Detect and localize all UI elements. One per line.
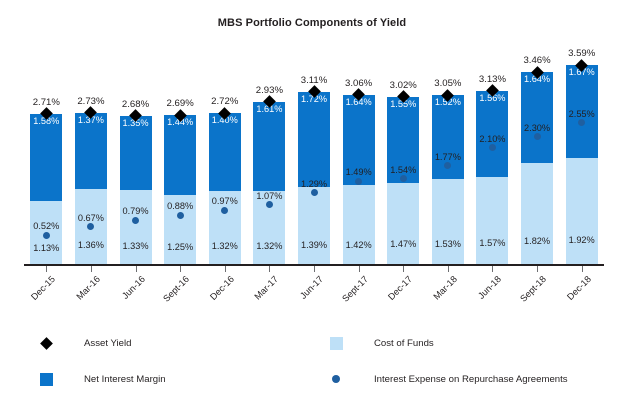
interest-expense-marker [534, 133, 541, 140]
x-axis-tick [448, 266, 449, 272]
bar-segment-net-interest-margin [521, 72, 553, 163]
value-label-interest-expense: 0.97% [209, 196, 241, 206]
bar-segment-net-interest-margin [253, 102, 285, 191]
bar-segment-cost-of-funds [566, 158, 598, 264]
plot-area: 1.13%1.58%2.71%0.52%1.36%1.37%2.73%0.67%… [24, 48, 604, 264]
value-label-interest-expense: 1.07% [253, 191, 285, 201]
interest-expense-marker [43, 232, 50, 239]
interest-expense-marker [400, 175, 407, 182]
interest-expense-marker [221, 207, 228, 214]
value-label-cost-of-funds: 1.13% [30, 243, 62, 253]
bar-segment-cost-of-funds [432, 179, 464, 264]
x-axis-tick [46, 266, 47, 272]
x-axis-label: Mar-16 [65, 274, 102, 311]
bar-segment-net-interest-margin [298, 92, 330, 187]
value-label-interest-expense: 0.79% [120, 206, 152, 216]
x-axis-tick [180, 266, 181, 272]
legend-item[interactable]: Net Interest Margin [40, 370, 166, 388]
legend-swatch [330, 375, 374, 383]
x-axis-tick [269, 266, 270, 272]
square-swatch-icon [40, 373, 53, 386]
legend-swatch [40, 373, 84, 386]
value-label-asset-yield: 3.46% [513, 55, 561, 66]
bar-segment-cost-of-funds [387, 183, 419, 264]
chart-legend: Asset YieldCost of FundsNet Interest Mar… [0, 330, 624, 400]
value-label-interest-expense: 0.67% [75, 213, 107, 223]
value-label-cost-of-funds: 1.42% [343, 240, 375, 250]
x-axis-label: Sept-17 [333, 274, 370, 311]
x-axis-label: Jun-18 [467, 274, 504, 311]
diamond-icon [40, 337, 53, 350]
value-label-asset-yield: 2.72% [201, 96, 249, 107]
bar-segment-cost-of-funds [521, 163, 553, 264]
value-label-interest-expense: 1.29% [298, 179, 330, 189]
x-axis-tick [492, 266, 493, 272]
bar-segment-cost-of-funds [343, 185, 375, 264]
interest-expense-marker [177, 212, 184, 219]
x-axis-label: Dec-18 [556, 274, 593, 311]
x-axis-tick [314, 266, 315, 272]
bar-segment-net-interest-margin [30, 114, 62, 202]
x-axis-label: Dec-17 [378, 274, 415, 311]
chart-container: MBS Portfolio Components of Yield 1.13%1… [0, 0, 624, 413]
x-axis-label: Sept-18 [511, 274, 548, 311]
legend-label: Cost of Funds [374, 338, 434, 349]
value-label-interest-expense: 2.30% [521, 123, 553, 133]
value-label-asset-yield: 2.69% [156, 98, 204, 109]
x-axis-tick [582, 266, 583, 272]
value-label-cost-of-funds: 1.82% [521, 236, 553, 246]
x-axis-label: Jun-16 [110, 274, 147, 311]
value-label-cost-of-funds: 1.92% [566, 235, 598, 245]
legend-item[interactable]: Interest Expense on Repurchase Agreement… [330, 370, 568, 388]
square-swatch-icon [330, 337, 343, 350]
bar-segment-cost-of-funds [120, 190, 152, 264]
legend-label: Net Interest Margin [84, 374, 166, 385]
value-label-interest-expense: 1.54% [387, 165, 419, 175]
value-label-asset-yield: 3.13% [468, 74, 516, 85]
dot-icon [332, 375, 340, 383]
interest-expense-marker [132, 217, 139, 224]
x-axis-tick [91, 266, 92, 272]
value-label-asset-yield: 2.71% [22, 97, 70, 108]
x-axis-tick [537, 266, 538, 272]
value-label-asset-yield: 3.05% [424, 78, 472, 89]
x-axis-label: Mar-18 [422, 274, 459, 311]
value-label-interest-expense: 1.77% [432, 152, 464, 162]
interest-expense-marker [311, 189, 318, 196]
legend-item[interactable]: Cost of Funds [330, 334, 434, 352]
value-label-cost-of-funds: 1.57% [476, 238, 508, 248]
bar-segment-cost-of-funds [476, 177, 508, 264]
value-label-asset-yield: 3.02% [379, 80, 427, 91]
x-axis-tick [225, 266, 226, 272]
x-axis-tick [403, 266, 404, 272]
value-label-cost-of-funds: 1.53% [432, 239, 464, 249]
legend-swatch [330, 337, 374, 350]
value-label-asset-yield: 3.59% [558, 48, 606, 59]
value-label-cost-of-funds: 1.32% [253, 241, 285, 251]
legend-label: Interest Expense on Repurchase Agreement… [374, 374, 568, 385]
legend-swatch [40, 339, 84, 348]
x-axis-label: Mar-17 [244, 274, 281, 311]
bar-segment-cost-of-funds [298, 187, 330, 264]
x-axis-label: Dec-15 [21, 274, 58, 311]
value-label-interest-expense: 2.10% [476, 134, 508, 144]
x-axis-tick [136, 266, 137, 272]
value-label-interest-expense: 0.88% [164, 201, 196, 211]
value-label-interest-expense: 0.52% [30, 221, 62, 231]
value-label-asset-yield: 3.11% [290, 75, 338, 86]
value-label-cost-of-funds: 1.32% [209, 241, 241, 251]
value-label-cost-of-funds: 1.36% [75, 240, 107, 250]
value-label-cost-of-funds: 1.39% [298, 240, 330, 250]
value-label-asset-yield: 3.06% [335, 78, 383, 89]
value-label-cost-of-funds: 1.47% [387, 239, 419, 249]
value-label-asset-yield: 2.93% [245, 85, 293, 96]
x-axis-label: Dec-16 [199, 274, 236, 311]
legend-item[interactable]: Asset Yield [40, 334, 131, 352]
value-label-interest-expense: 1.49% [343, 167, 375, 177]
x-axis-tick [359, 266, 360, 272]
value-label-interest-expense: 2.55% [566, 109, 598, 119]
value-label-cost-of-funds: 1.33% [120, 241, 152, 251]
value-label-cost-of-funds: 1.25% [164, 242, 196, 252]
value-label-asset-yield: 2.73% [67, 96, 115, 107]
x-axis-label: Sept-16 [154, 274, 191, 311]
legend-label: Asset Yield [84, 338, 131, 349]
chart-title: MBS Portfolio Components of Yield [0, 17, 624, 29]
value-label-asset-yield: 2.68% [112, 99, 160, 110]
x-axis-label: Jun-17 [288, 274, 325, 311]
